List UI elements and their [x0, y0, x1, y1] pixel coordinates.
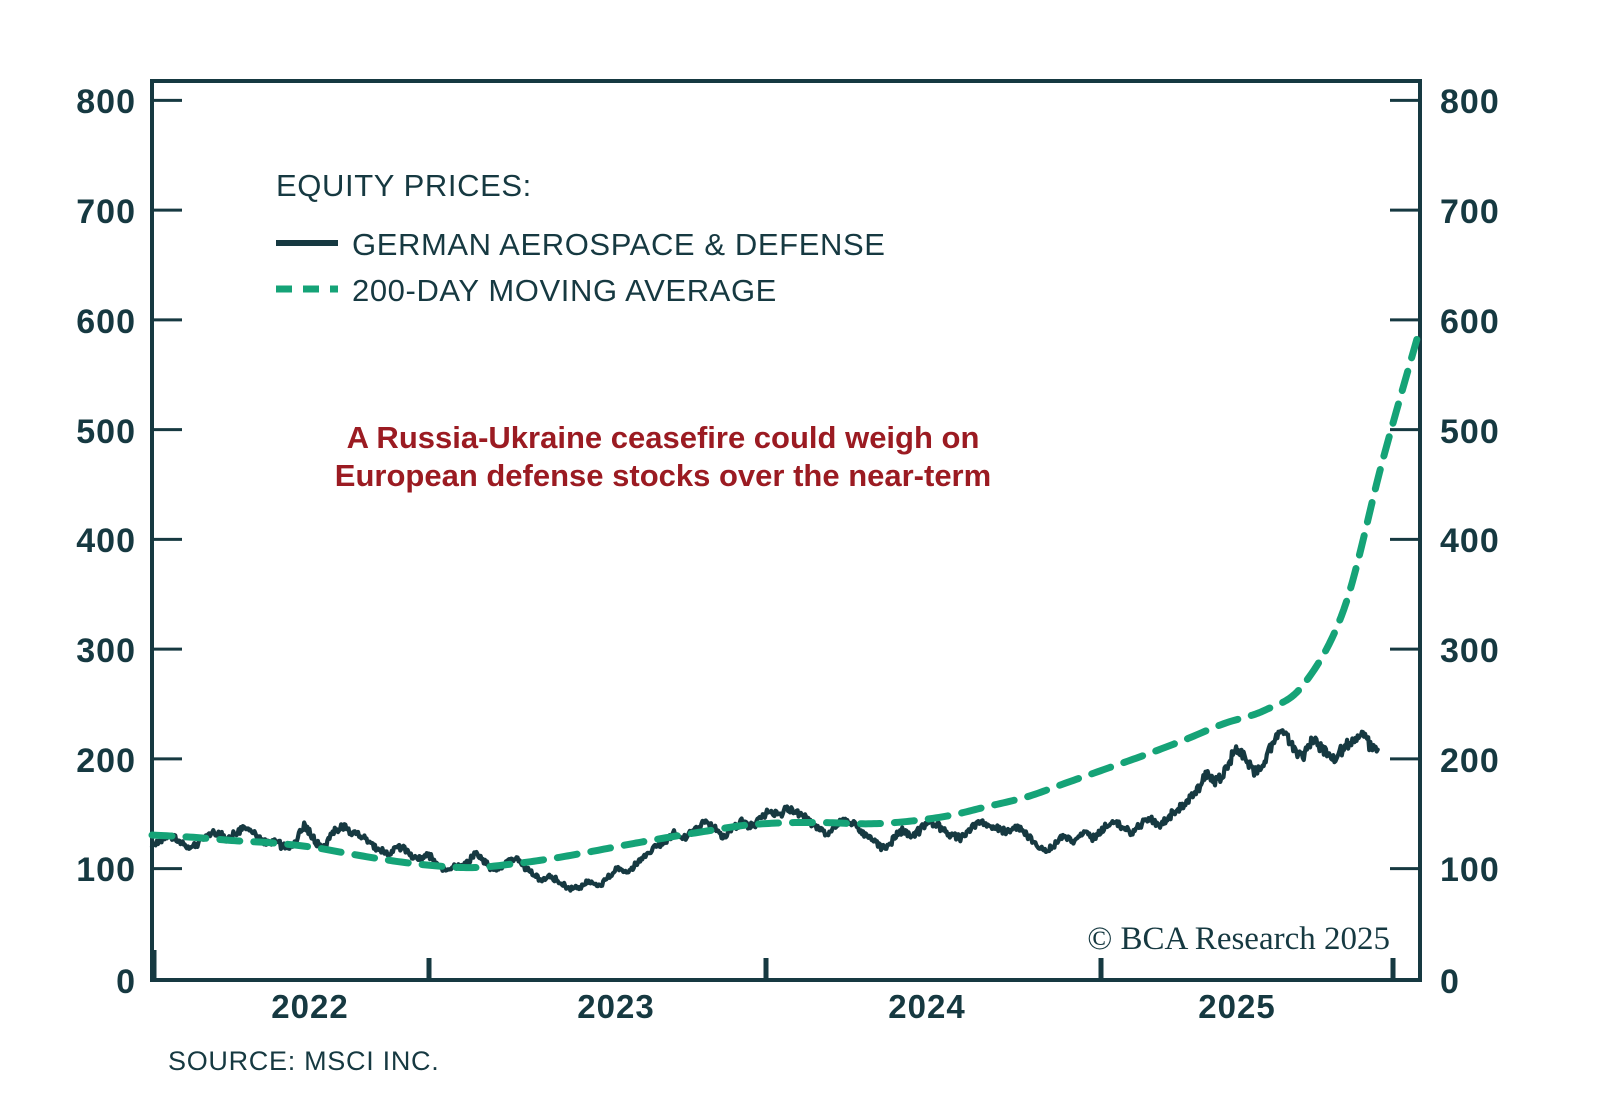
- y-label-left-300: 300: [76, 632, 136, 670]
- annotation-ceasefire: A Russia-Ukraine ceasefire could weigh o…: [335, 420, 991, 493]
- y-label-right-400: 400: [1440, 522, 1500, 560]
- y-label-left-0: 0: [116, 963, 136, 1001]
- legend-label-german-aerospace-defense: GERMAN AEROSPACE & DEFENSE: [352, 227, 886, 262]
- annotation-line-1: A Russia-Ukraine ceasefire could weigh o…: [347, 420, 980, 455]
- y-label-right-700: 700: [1440, 193, 1500, 231]
- y-label-right-100: 100: [1440, 851, 1500, 889]
- y-label-left-500: 500: [76, 413, 136, 451]
- y-label-right-500: 500: [1440, 413, 1500, 451]
- y-axis-left-labels: 800 700 600 500 400 300 200 100 0: [76, 83, 136, 1001]
- y-label-left-600: 600: [76, 303, 136, 341]
- y-axis-right-labels: 800 700 600 500 400 300 200 100 0: [1440, 83, 1500, 1001]
- series-line-german-aerospace-defense: [152, 730, 1378, 890]
- y-label-right-0: 0: [1440, 963, 1460, 1001]
- legend-label-200-day-moving-average: 200-DAY MOVING AVERAGE: [352, 273, 777, 308]
- y-label-right-200: 200: [1440, 742, 1500, 780]
- x-label-2024: 2024: [888, 988, 965, 1025]
- y-axis-left-ticks: [152, 100, 182, 868]
- x-label-2025: 2025: [1198, 988, 1275, 1025]
- chart-container: 800 700 600 500 400 300 200 100 0 800 70…: [0, 0, 1600, 1107]
- legend-heading: EQUITY PRICES:: [276, 168, 532, 203]
- y-label-right-600: 600: [1440, 303, 1500, 341]
- y-label-left-700: 700: [76, 193, 136, 231]
- legend: EQUITY PRICES: GERMAN AEROSPACE & DEFENS…: [276, 168, 886, 308]
- plot-frame: [152, 81, 1420, 980]
- y-label-left-800: 800: [76, 83, 136, 121]
- y-label-left-100: 100: [76, 851, 136, 889]
- annotation-line-2: European defense stocks over the near-te…: [335, 458, 991, 493]
- chart-svg: 800 700 600 500 400 300 200 100 0 800 70…: [0, 0, 1600, 1107]
- y-axis-right-ticks: [1390, 100, 1420, 868]
- x-label-2023: 2023: [577, 988, 654, 1025]
- y-label-left-400: 400: [76, 522, 136, 560]
- y-label-right-300: 300: [1440, 632, 1500, 670]
- y-label-right-800: 800: [1440, 83, 1500, 121]
- x-axis-labels: 2022 2023 2024 2025: [271, 988, 1275, 1025]
- series-line-200-day-moving-average: [152, 339, 1417, 867]
- source-note: SOURCE: MSCI INC.: [168, 1046, 439, 1076]
- x-label-2022: 2022: [271, 988, 348, 1025]
- y-label-left-200: 200: [76, 742, 136, 780]
- copyright-notice: © BCA Research 2025: [1087, 921, 1390, 957]
